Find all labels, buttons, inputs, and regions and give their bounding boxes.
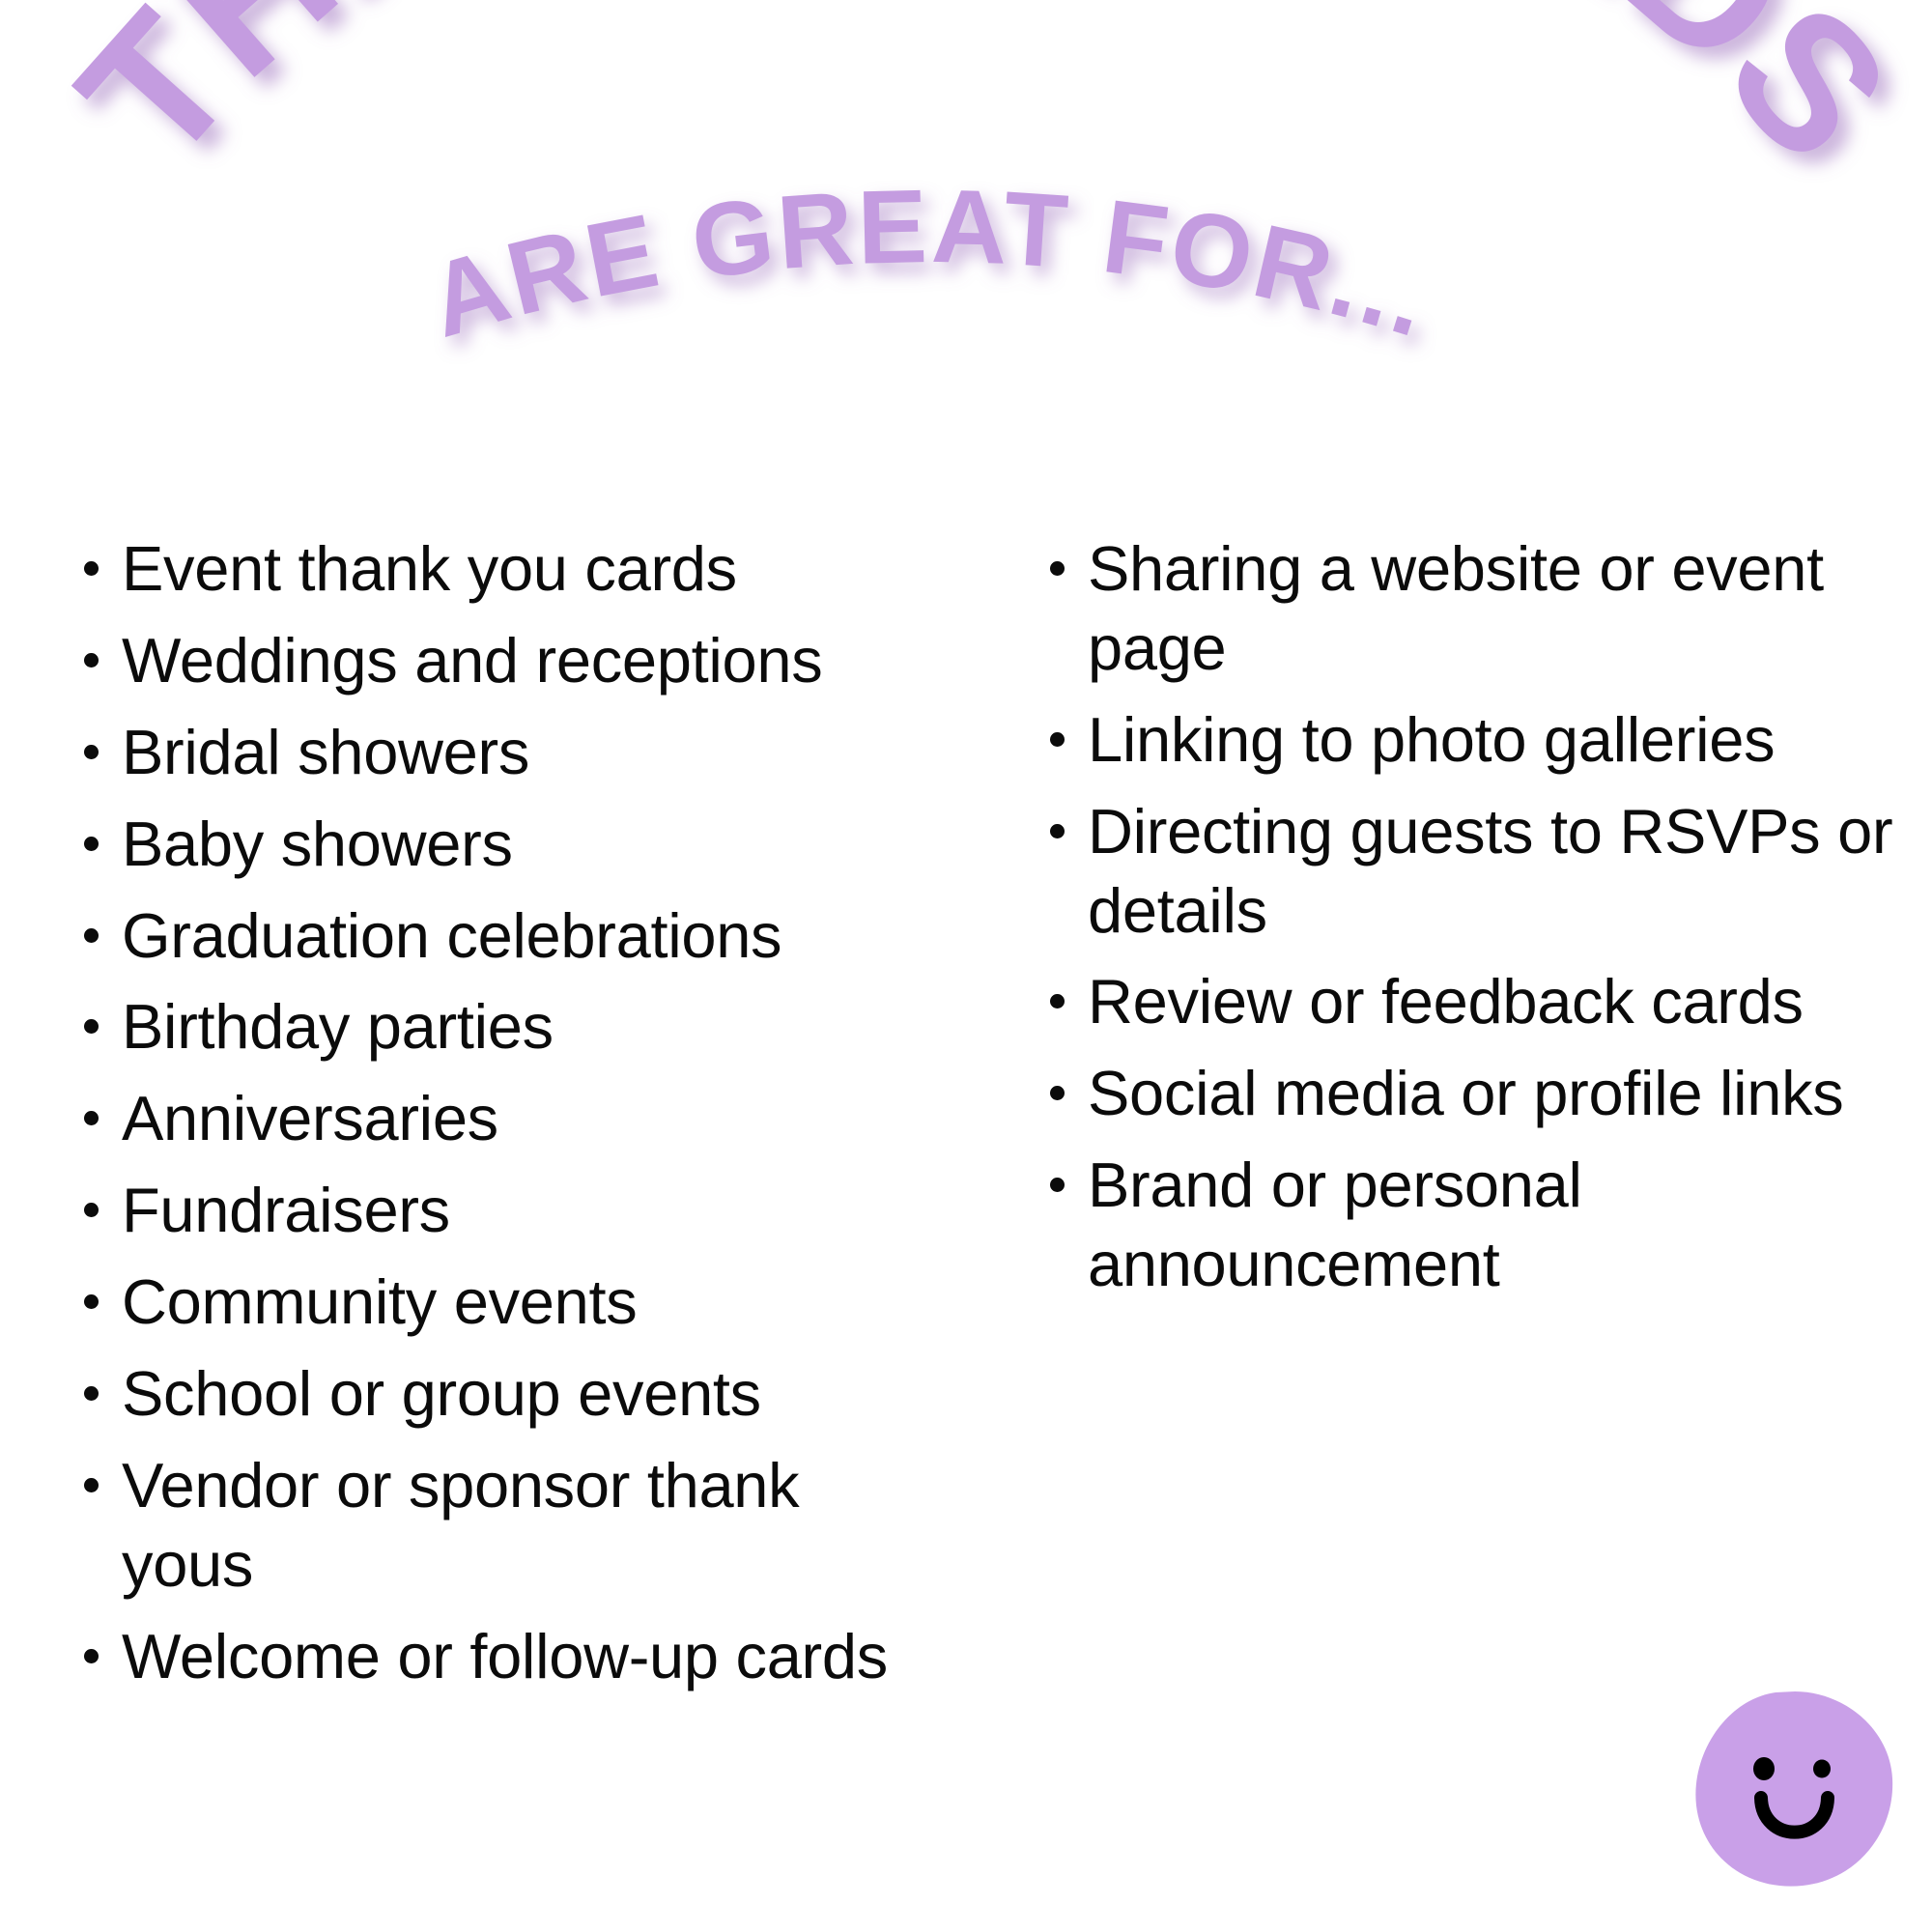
smiley-left-eye: [1753, 1757, 1775, 1780]
list-item: Community events: [75, 1263, 947, 1342]
poster-canvas: THANK YOU CARDS ARE GREAT FOR... THANK Y…: [0, 0, 1932, 1932]
list-item: Welcome or follow-up cards: [75, 1617, 947, 1696]
list-item: Vendor or sponsor thank yous: [75, 1446, 947, 1605]
smiley-blob-shape: [1695, 1691, 1892, 1887]
list-item: Sharing a website or event page: [1041, 529, 1922, 688]
list-item: Anniversaries: [75, 1079, 947, 1158]
list-item: Weddings and receptions: [75, 621, 947, 700]
list-item: Fundraisers: [75, 1171, 947, 1250]
smiley-right-eye: [1813, 1760, 1831, 1778]
list-item: Bridal showers: [75, 713, 947, 792]
list-item: Baby showers: [75, 805, 947, 884]
benefits-list-left: Event thank you cardsWeddings and recept…: [75, 529, 947, 1696]
list-item: Social media or profile links: [1041, 1054, 1922, 1133]
list-item: Review or feedback cards: [1041, 962, 1922, 1041]
smiley-face-svg: [1690, 1686, 1898, 1893]
benefits-lists: Event thank you cardsWeddings and recept…: [0, 529, 1932, 1709]
list-item: Graduation celebrations: [75, 896, 947, 976]
benefits-list-right: Sharing a website or event pageLinking t…: [1041, 529, 1922, 1304]
headline-svg: THANK YOU CARDS ARE GREAT FOR... THANK Y…: [0, 0, 1932, 406]
list-item: Directing guests to RSVPs or details: [1041, 792, 1922, 951]
list-item: School or group events: [75, 1354, 947, 1434]
list-item: Brand or personal announcement: [1041, 1146, 1922, 1304]
list-item: Birthday parties: [75, 987, 947, 1066]
smiley-face-icon: [1690, 1686, 1898, 1893]
headline-block: THANK YOU CARDS ARE GREAT FOR... THANK Y…: [0, 0, 1932, 406]
benefits-column-right: Sharing a website or event pageLinking t…: [966, 529, 1932, 1317]
list-item: Event thank you cards: [75, 529, 947, 609]
list-item: Linking to photo galleries: [1041, 700, 1922, 780]
benefits-column-left: Event thank you cardsWeddings and recept…: [0, 529, 966, 1709]
